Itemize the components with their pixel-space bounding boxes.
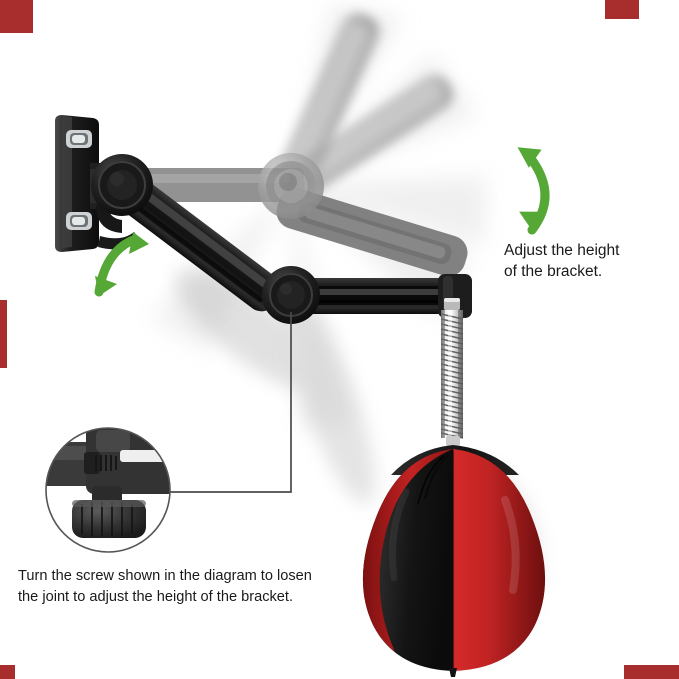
caption-screw-line-2: the joint to adjust the height of the br… bbox=[18, 587, 348, 608]
caption-screw-note: Turn the screw shown in the diagram to l… bbox=[18, 566, 348, 607]
corner-mark-mid-left bbox=[0, 300, 7, 368]
caption-height-adjust: Adjust the height of the bracket. bbox=[504, 240, 664, 282]
corner-mark-bottom-right bbox=[624, 665, 679, 679]
corner-mark-bottom-left bbox=[0, 665, 15, 679]
corner-mark-top-left bbox=[0, 0, 33, 33]
caption-screw-line-1: Turn the screw shown in the diagram to l… bbox=[18, 566, 348, 587]
infographic-canvas: Adjust the height of the bracket. Turn t… bbox=[0, 0, 679, 679]
caption-height-line-1: Adjust the height bbox=[504, 240, 664, 261]
corner-mark-top-right bbox=[605, 0, 639, 19]
height-arrow-curved-icon bbox=[512, 139, 549, 232]
caption-height-line-2: of the bracket. bbox=[504, 261, 664, 282]
rotation-arrow-curved-icon bbox=[95, 232, 149, 296]
